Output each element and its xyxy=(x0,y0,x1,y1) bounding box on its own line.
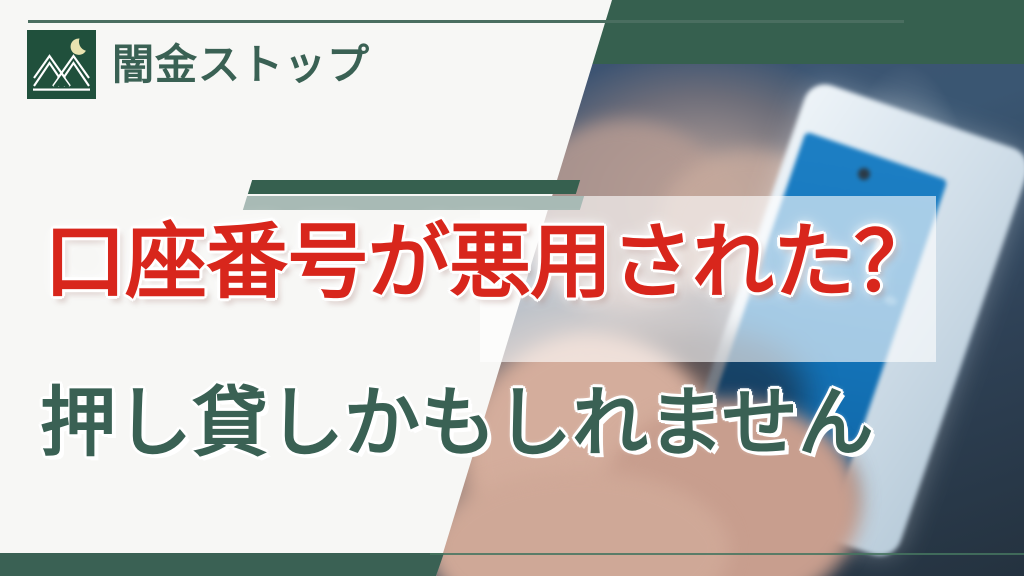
headline-primary: 口座番号が悪用された？ xyxy=(44,222,935,304)
header-divider xyxy=(28,20,904,23)
accent-bar-light xyxy=(243,196,584,210)
moon-mountain-mark-icon xyxy=(27,30,96,99)
accent-bar-dark xyxy=(248,180,580,194)
brand-logo[interactable]: 闇金ストップ xyxy=(27,30,370,99)
accent-bars xyxy=(250,180,582,210)
banner-canvas: 闇金ストップ 口座番号が悪用された？ 押し貸しかもしれません xyxy=(0,0,1024,576)
headline-secondary: 押し貸しかもしれません xyxy=(40,385,874,461)
bottom-divider xyxy=(430,553,1024,555)
brand-name: 闇金ストップ xyxy=(112,44,370,86)
